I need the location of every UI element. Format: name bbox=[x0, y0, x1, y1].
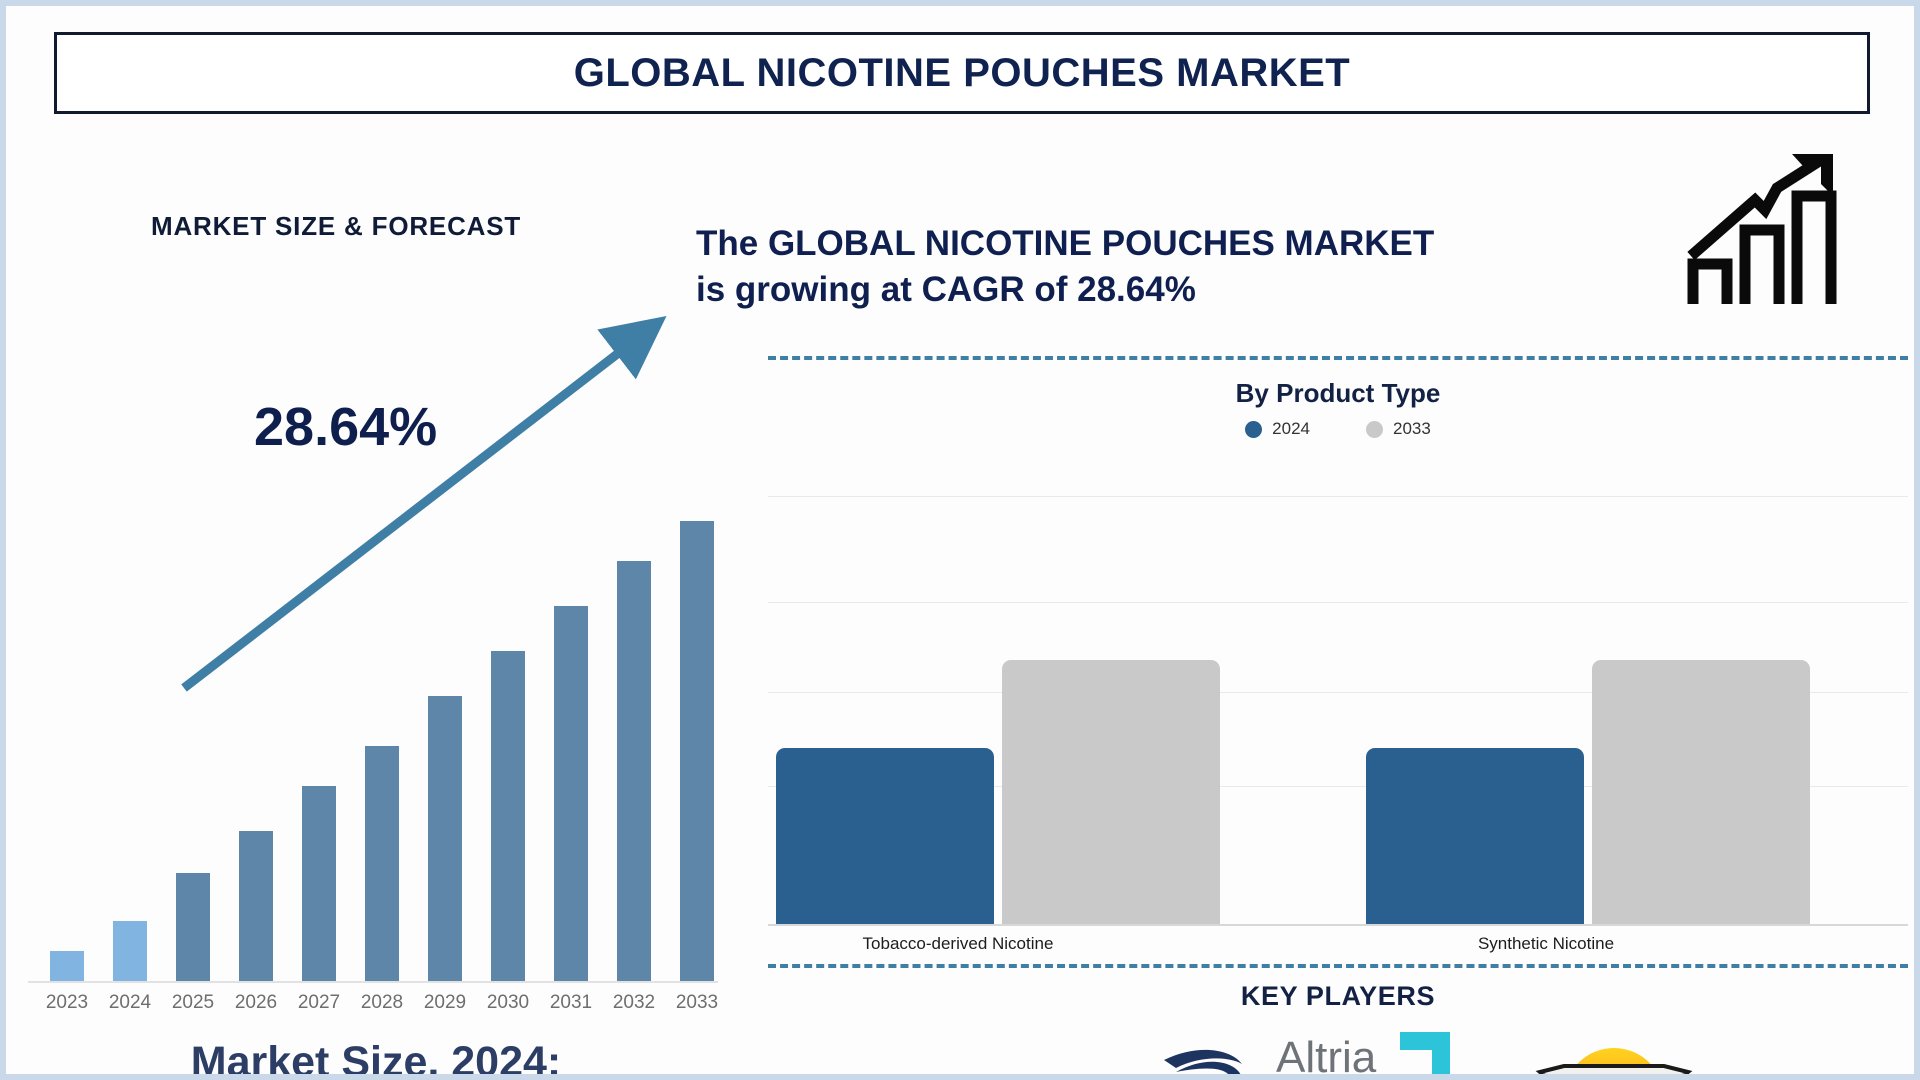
bar-2028 bbox=[365, 746, 399, 981]
tick-label: 2024 bbox=[100, 992, 160, 1014]
title-banner: GLOBAL NICOTINE POUCHES MARKET bbox=[54, 32, 1870, 114]
bar-2026 bbox=[239, 831, 273, 981]
headline-line-2: is growing at CAGR of 28.64% bbox=[696, 267, 1676, 313]
market-size-forecast-label: MARKET SIZE & FORECAST bbox=[151, 211, 521, 242]
tick-label: 2023 bbox=[37, 992, 97, 1014]
by-product-type-title: By Product Type bbox=[768, 378, 1908, 409]
divider-bottom bbox=[768, 964, 1908, 968]
x-axis-tick-labels: 2023 2024 2025 2026 2027 2028 2029 2030 … bbox=[28, 992, 728, 1026]
key-players-title: KEY PLAYERS bbox=[768, 981, 1908, 1012]
legend-item-2033: 2033 bbox=[1366, 419, 1431, 439]
bar-tobacco-2033 bbox=[1002, 660, 1220, 926]
bar-2023 bbox=[50, 951, 84, 981]
tick-label: 2028 bbox=[352, 992, 412, 1014]
market-size-bar-chart bbox=[28, 326, 728, 981]
legend-label: 2024 bbox=[1272, 419, 1310, 439]
altria-logo-line-1: Altria bbox=[1276, 1036, 1376, 1080]
x-axis-line bbox=[768, 924, 1908, 926]
tick-label: 2032 bbox=[604, 992, 664, 1014]
bar-2027 bbox=[302, 786, 336, 981]
legend-dot-icon bbox=[1366, 421, 1383, 438]
legend-item-2024: 2024 bbox=[1245, 419, 1310, 439]
bar-2032 bbox=[617, 561, 651, 981]
market-size-value: Market Size, 2024: USD 5,905.00 Million bbox=[6, 1036, 746, 1080]
altria-science-logo-icon: Altria Science bbox=[1276, 1036, 1476, 1080]
bar-synthetic-2033 bbox=[1592, 660, 1810, 926]
tick-label: 2026 bbox=[226, 992, 286, 1014]
infographic-page: GLOBAL NICOTINE POUCHES MARKET MARKET SI… bbox=[0, 0, 1920, 1080]
bat-logo-text: BAT bbox=[988, 1068, 1133, 1080]
category-label-tobacco-derived: Tobacco-derived Nicotine bbox=[768, 934, 1148, 954]
headline: The GLOBAL NICOTINE POUCHES MARKET is gr… bbox=[696, 221, 1676, 313]
headline-line-1: The GLOBAL NICOTINE POUCHES MARKET bbox=[696, 221, 1676, 267]
bat-swoosh-icon bbox=[1162, 1042, 1244, 1080]
bat-logo-icon: BAT bbox=[988, 1036, 1228, 1080]
key-players-logos: BAT Altria Science bbox=[846, 1031, 1846, 1080]
gridline bbox=[768, 496, 1908, 497]
bar-tobacco-2024 bbox=[776, 748, 994, 926]
tick-label: 2025 bbox=[163, 992, 223, 1014]
altria-hook-icon bbox=[1394, 1030, 1456, 1080]
category-label-synthetic: Synthetic Nicotine bbox=[1356, 934, 1736, 954]
tick-label: 2027 bbox=[289, 992, 349, 1014]
nicopods-sun-icon bbox=[1524, 1036, 1704, 1080]
bar-2029 bbox=[428, 696, 462, 981]
market-size-forecast-panel: MARKET SIZE & FORECAST 28.64% bbox=[6, 126, 746, 1080]
tick-label: 2030 bbox=[478, 992, 538, 1014]
right-panel: The GLOBAL NICOTINE POUCHES MARKET is gr… bbox=[696, 126, 1920, 1080]
divider-top bbox=[768, 356, 1908, 360]
page-title: GLOBAL NICOTINE POUCHES MARKET bbox=[574, 51, 1351, 96]
market-size-line-1: Market Size, 2024: bbox=[6, 1036, 746, 1080]
bar-synthetic-2024 bbox=[1366, 748, 1584, 926]
legend-label: 2033 bbox=[1393, 419, 1431, 439]
bar-2025 bbox=[176, 873, 210, 981]
bar-2024 bbox=[113, 921, 147, 981]
chart-legend: 2024 2033 bbox=[768, 419, 1908, 439]
tick-label: 2029 bbox=[415, 992, 475, 1014]
bar-2031 bbox=[554, 606, 588, 981]
gridline bbox=[768, 602, 1908, 603]
nicopods-logo-icon: Nicopods.cz bbox=[1524, 1036, 1704, 1080]
legend-dot-icon bbox=[1245, 421, 1262, 438]
by-product-type-bar-chart bbox=[768, 456, 1908, 926]
growth-bar-chart-arrow-icon bbox=[1681, 144, 1851, 309]
x-axis-line bbox=[28, 981, 718, 983]
bar-2030 bbox=[491, 651, 525, 981]
tick-label: 2031 bbox=[541, 992, 601, 1014]
